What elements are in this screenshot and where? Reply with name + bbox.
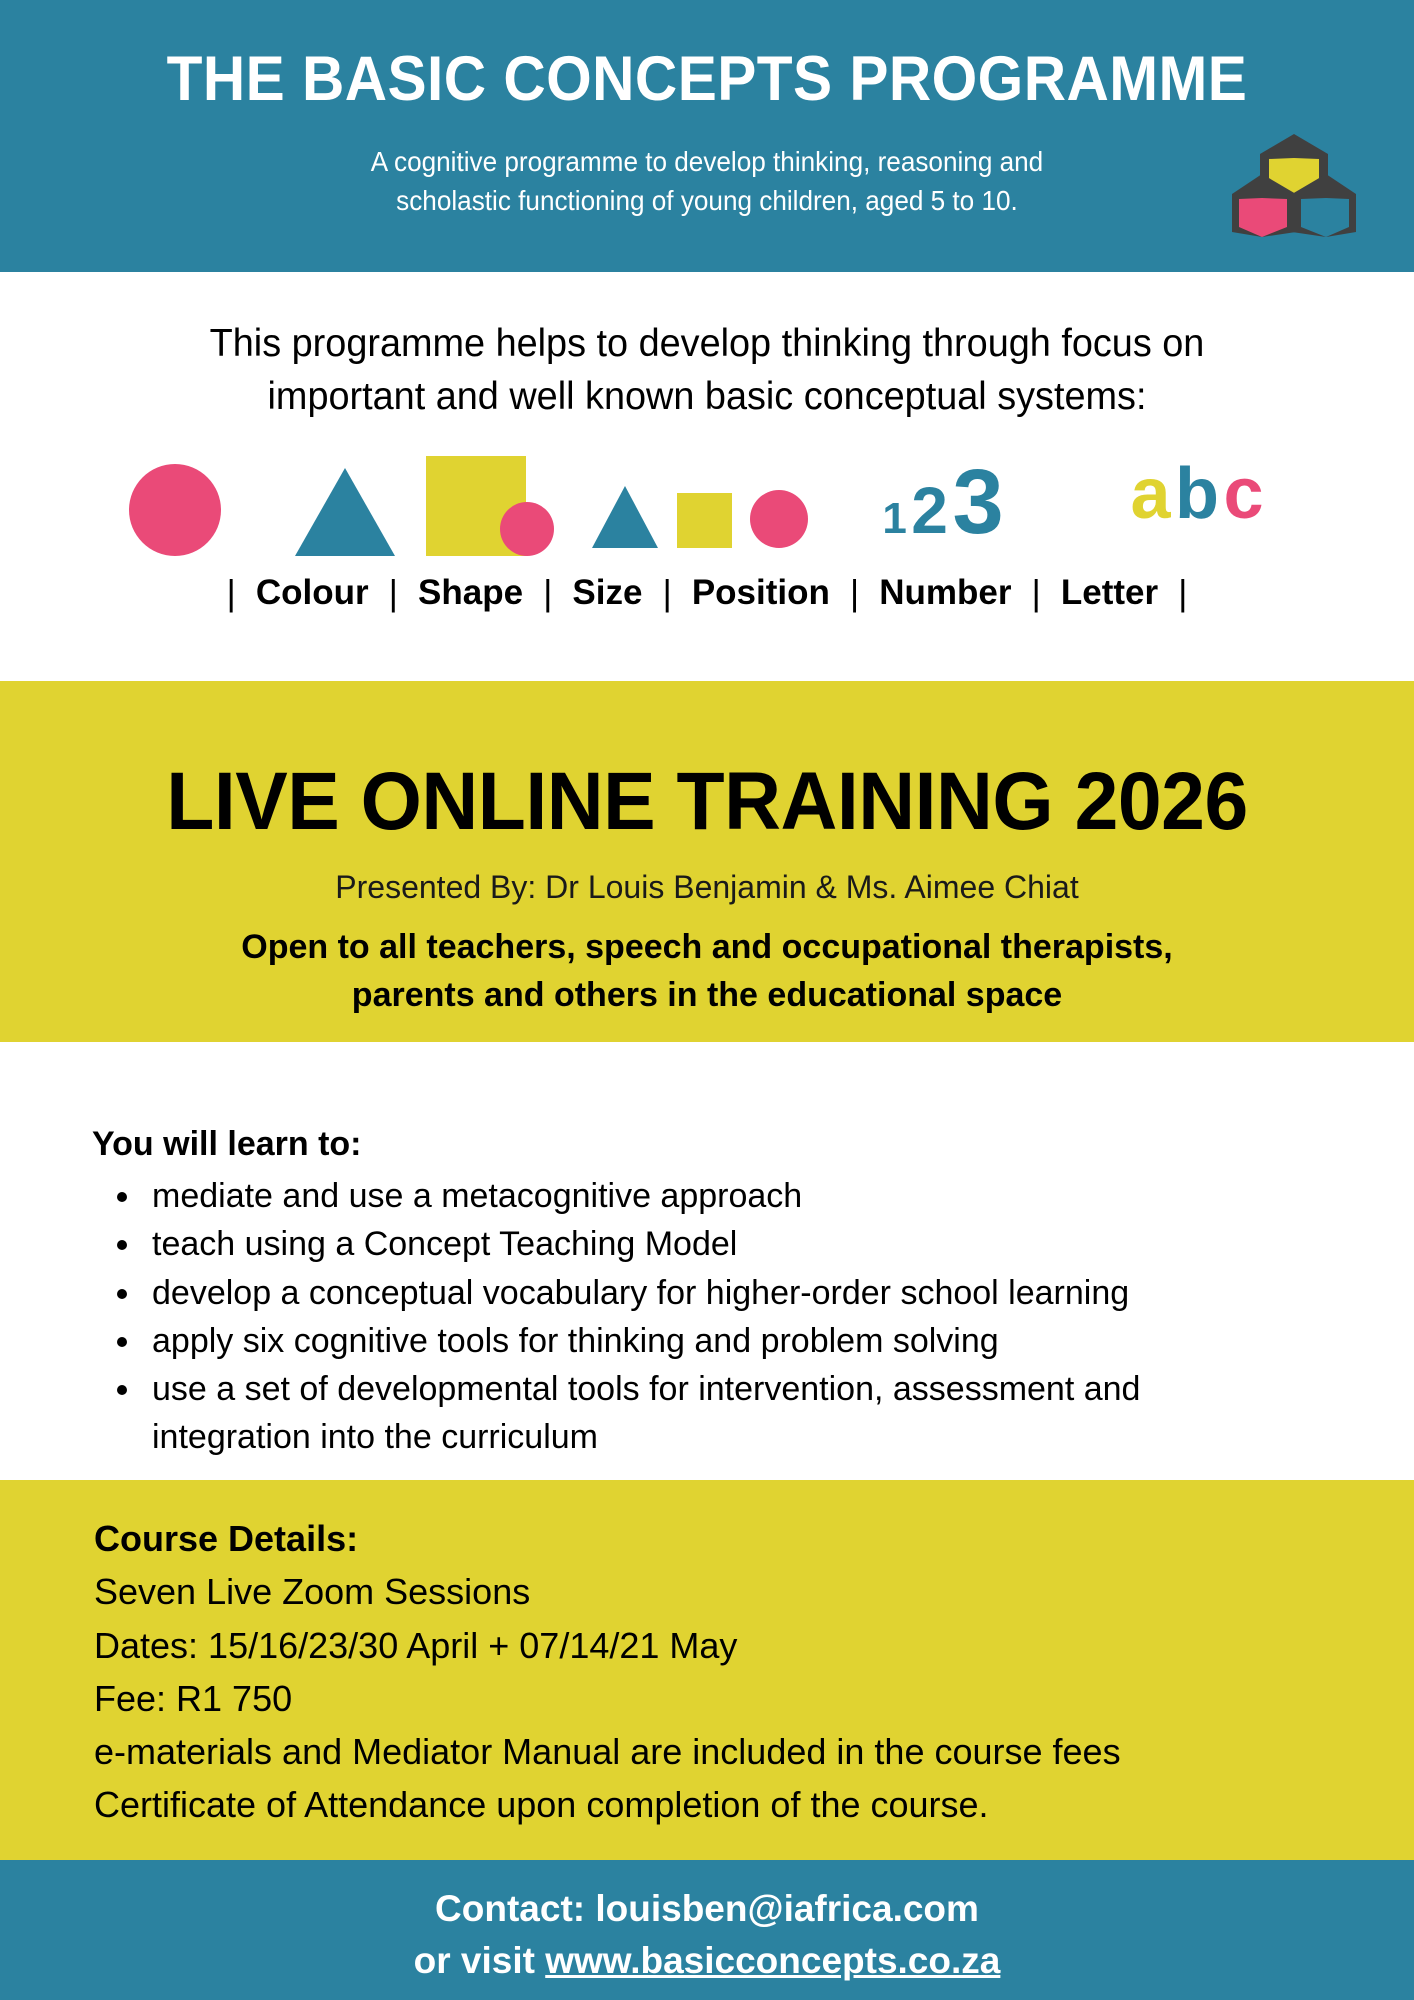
list-item: teach using a Concept Teaching Model	[144, 1220, 1242, 1268]
label-separator-2: |	[532, 572, 563, 614]
learning-outcomes-section: You will learn to: mediate and use a met…	[92, 1125, 1242, 1462]
list-item: apply six cognitive tools for thinking a…	[144, 1317, 1242, 1365]
concept-label-position: Position	[683, 573, 839, 613]
header-subtitle-line-1: A cognitive programme to develop thinkin…	[35, 142, 1378, 181]
icon-cell-position	[582, 486, 814, 556]
intro-paragraph: This programme helps to develop thinking…	[118, 318, 1296, 423]
course-details-section: Course Details: Seven Live Zoom Sessions…	[94, 1512, 1344, 1832]
letter-c: c	[1223, 466, 1263, 524]
page-title: THE BASIC CONCEPTS PROGRAMME	[49, 48, 1364, 111]
contact-email-line[interactable]: Contact: louisben@iafrica.com	[0, 1860, 1414, 1935]
course-detail-line: Dates: 15/16/23/30 April + 07/14/21 May	[94, 1619, 1344, 1672]
header-subtitle: A cognitive programme to develop thinkin…	[35, 142, 1378, 220]
concept-label-shape: Shape	[409, 573, 532, 613]
learning-outcomes-list: mediate and use a metacognitive approach…	[92, 1172, 1242, 1462]
list-item: use a set of developmental tools for int…	[144, 1365, 1242, 1462]
letter-b: b	[1175, 466, 1219, 524]
audience-note: Open to all teachers, speech and occupat…	[0, 923, 1414, 1020]
pink-circle-icon	[129, 464, 221, 556]
course-details-heading: Course Details:	[94, 1512, 1344, 1565]
course-detail-line: e-materials and Mediator Manual are incl…	[94, 1725, 1344, 1778]
label-separator-6: |	[1167, 572, 1198, 614]
concept-icons-strip: 1 2 3 a b c	[60, 436, 1360, 556]
icon-cell-size	[400, 446, 590, 556]
numbers-123-icon: 1 2 3	[828, 466, 1058, 540]
footer-band: Contact: louisben@iafrica.com or visit w…	[0, 1860, 1414, 2000]
audience-note-line-2: parents and others in the educational sp…	[0, 971, 1414, 1019]
digit-1: 1	[882, 501, 906, 536]
website-line: or visit www.basicconcepts.co.za	[0, 1935, 1414, 1987]
position-triangle-icon	[592, 486, 658, 548]
course-detail-line: Fee: R1 750	[94, 1672, 1344, 1725]
visit-prefix: or visit	[414, 1940, 546, 1981]
label-separator-5: |	[1021, 572, 1052, 614]
icon-cell-number: 1 2 3	[828, 466, 1058, 556]
header-band: THE BASIC CONCEPTS PROGRAMME A cognitive…	[0, 0, 1414, 272]
list-item: mediate and use a metacognitive approach	[144, 1172, 1242, 1220]
position-square-icon	[677, 493, 732, 548]
training-banner: LIVE ONLINE TRAINING 2026 Presented By: …	[0, 681, 1414, 1042]
course-detail-line: Certificate of Attendance upon completio…	[94, 1778, 1344, 1831]
small-pink-circle-icon	[500, 502, 554, 556]
letter-a: a	[1131, 466, 1171, 524]
label-separator-1: |	[378, 572, 409, 614]
label-separator-3: |	[651, 572, 682, 614]
position-circle-icon	[750, 490, 808, 548]
header-subtitle-line-2: scholastic functioning of young children…	[35, 181, 1378, 220]
icon-cell-letter: a b c	[1082, 466, 1312, 556]
intro-line-2: important and well known basic conceptua…	[118, 371, 1296, 424]
position-group-icon	[582, 486, 814, 548]
label-separator-0: |	[216, 572, 247, 614]
audience-note-line-1: Open to all teachers, speech and occupat…	[0, 923, 1414, 971]
presented-by: Presented By: Dr Louis Benjamin & Ms. Ai…	[0, 869, 1414, 906]
three-cubes-logo	[1230, 132, 1358, 237]
intro-line-1: This programme helps to develop thinking…	[118, 318, 1296, 371]
size-group-icon	[400, 446, 590, 556]
digit-3: 3	[952, 466, 1003, 540]
training-title: LIVE ONLINE TRAINING 2026	[28, 761, 1385, 843]
blue-triangle-icon	[295, 468, 395, 556]
digit-2: 2	[911, 484, 948, 537]
website-link[interactable]: www.basicconcepts.co.za	[545, 1940, 1000, 1981]
course-detail-line: Seven Live Zoom Sessions	[94, 1565, 1344, 1618]
learning-outcomes-heading: You will learn to:	[92, 1125, 1242, 1164]
poster-root: THE BASIC CONCEPTS PROGRAMME A cognitive…	[0, 0, 1414, 2000]
list-item: develop a conceptual vocabulary for high…	[144, 1269, 1242, 1317]
concept-label-letter: Letter	[1052, 573, 1167, 613]
concept-labels-row: | Colour | Shape | Size | Position | Num…	[0, 572, 1414, 614]
concept-label-number: Number	[870, 573, 1020, 613]
concept-label-size: Size	[563, 573, 651, 613]
letters-abc-icon: a b c	[1082, 466, 1312, 524]
icon-cell-colour	[95, 464, 255, 556]
label-separator-4: |	[839, 572, 870, 614]
concept-label-colour: Colour	[247, 573, 378, 613]
